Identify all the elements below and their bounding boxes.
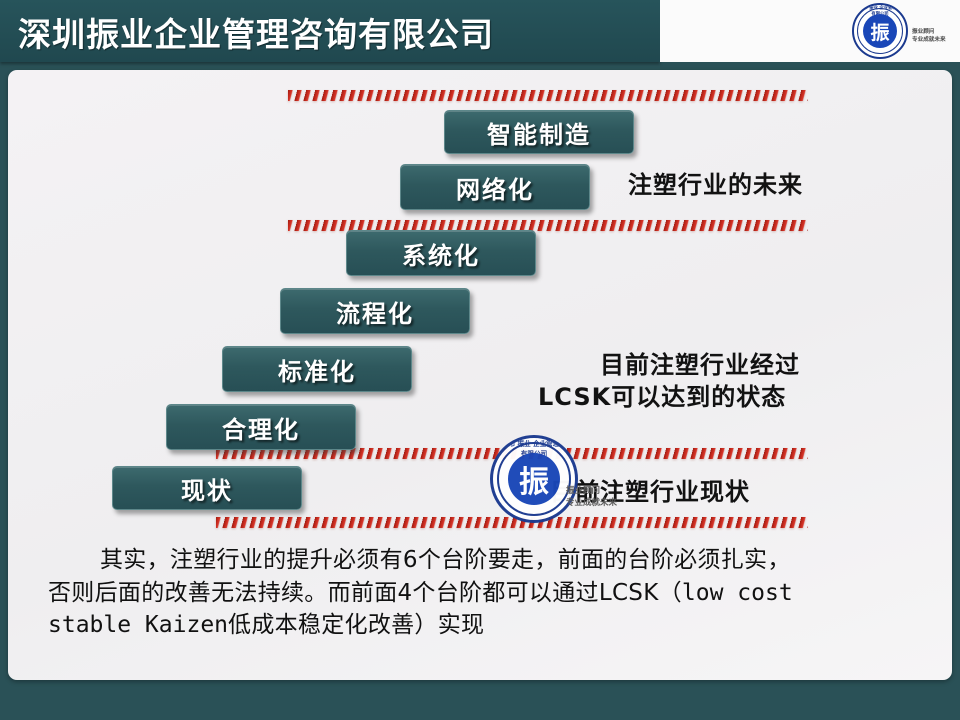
paragraph-line-3-en: stable Kaizen xyxy=(48,612,228,638)
step-box-2[interactable]: 网络化 xyxy=(400,164,590,210)
watermark-tagline-line1: 振业顾问 xyxy=(566,485,617,497)
paragraph-line-2-cn: 否则后面的改善无法持续。而前面4个台阶都可以通过LCSK（ xyxy=(48,580,682,606)
step-box-1[interactable]: 智能制造 xyxy=(444,110,634,154)
annotation-lcsk: 目前注塑行业经过 LCSK可以达到的状态 xyxy=(538,350,800,413)
paragraph-line-2: 否则后面的改善无法持续。而前面4个台阶都可以通过LCSK（low cost xyxy=(48,577,908,610)
watermark-logo: 深圳市 振业 企业管理咨询有限公司 振 xyxy=(490,435,578,523)
step-label-3: 系统化 xyxy=(402,236,480,271)
page-title: 深圳振业企业管理咨询有限公司 xyxy=(18,8,494,56)
watermark-tagline-line2: 专业成就未来 xyxy=(566,497,617,509)
annotation-lcsk-line2: LCSK可以达到的状态 xyxy=(538,382,800,414)
logo-tagline-line2: 专业成就未来 xyxy=(912,36,946,44)
paragraph-line-3: stable Kaizen低成本稳定化改善）实现 xyxy=(48,609,908,642)
step-label-1: 智能制造 xyxy=(487,115,591,150)
step-label-7: 现状 xyxy=(181,471,233,506)
step-box-4[interactable]: 流程化 xyxy=(280,288,470,334)
body-paragraph: 其实，注塑行业的提升必须有6个台阶要走，前面的台阶必须扎实， 否则后面的改善无法… xyxy=(48,544,908,642)
company-logo: 深圳市 振业 企业管理咨询有限公司 振 xyxy=(852,3,908,59)
dashed-rule-top xyxy=(288,90,808,101)
paragraph-line-1: 其实，注塑行业的提升必须有6个台阶要走，前面的台阶必须扎实， xyxy=(48,544,908,577)
slide-root: 深圳振业企业管理咨询有限公司 深圳市 振业 企业管理咨询有限公司 振 振业顾问 … xyxy=(0,0,960,720)
step-label-6: 合理化 xyxy=(222,410,300,445)
logo-tagline-line1: 振业顾问 xyxy=(912,28,946,36)
annotation-lcsk-line1: 目前注塑行业经过 xyxy=(600,350,800,382)
step-box-7[interactable]: 现状 xyxy=(112,466,302,510)
watermark-center-char: 振 xyxy=(508,453,560,505)
logo-center-char: 振 xyxy=(863,14,897,48)
watermark-tagline: 振业顾问 专业成就未来 xyxy=(566,485,617,510)
step-label-2: 网络化 xyxy=(456,170,534,205)
step-box-6[interactable]: 合理化 xyxy=(166,404,356,450)
annotation-future: 注塑行业的未来 xyxy=(628,170,803,201)
logo-tagline: 振业顾问 专业成就未来 xyxy=(912,28,946,44)
paragraph-line-3-cn: 低成本稳定化改善）实现 xyxy=(228,612,484,638)
paragraph-line-2-en: low cost xyxy=(682,580,793,606)
step-box-5[interactable]: 标准化 xyxy=(222,346,412,392)
step-box-3[interactable]: 系统化 xyxy=(346,230,536,276)
step-label-4: 流程化 xyxy=(336,294,414,329)
step-label-5: 标准化 xyxy=(278,352,356,387)
